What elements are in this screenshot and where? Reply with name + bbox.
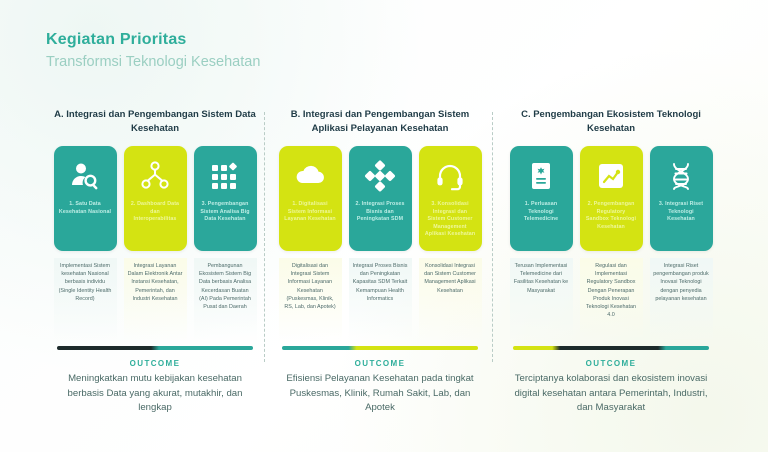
card-a2-label: 2. Dashboard Data dan Interoperabilitas: [124, 201, 187, 224]
outcome-c-label: OUTCOME: [586, 359, 637, 368]
cloud-icon: [293, 159, 327, 193]
card-b2[interactable]: 2. Integrasi Proses Bisnis dan Peningkat…: [349, 146, 412, 251]
card-c3-label: 3. Integrasi Riset Teknologi Kesehatan: [650, 201, 713, 224]
headset-icon: [433, 159, 467, 193]
column-b: B. Integrasi dan Pengembangan Sistem Apl…: [266, 108, 494, 416]
column-c-cards: 1. Perluasan Teknologi Telemedicine 2. P…: [510, 146, 713, 251]
card-b3-label: 3. Konsolidasi Integrasi dan Sistem Cust…: [419, 201, 482, 239]
outcome-c-bar: [513, 346, 709, 350]
diamond-network-icon: [363, 159, 397, 193]
infographic-page: Kegiatan Prioritas Transformsi Teknologi…: [0, 0, 768, 452]
column-b-outcome: OUTCOME Efisiensi Pelayanan Kesehatan pa…: [266, 346, 494, 416]
desc-b3: Konsolidasi Integrasi dan Sistem Custome…: [419, 258, 482, 342]
column-a-cards: 1. Satu Data Kesehatan Nasional 2. Dashb…: [54, 146, 257, 251]
page-title: Kegiatan Prioritas: [46, 30, 260, 50]
column-a-descriptions: Implementasi Sistem kesehatan Nasional b…: [54, 258, 257, 342]
dna-helix-icon: [664, 159, 698, 193]
card-a1[interactable]: 1. Satu Data Kesehatan Nasional: [54, 146, 117, 251]
desc-b2: Integrasi Proses Bisnis dan Peningkatan …: [349, 258, 412, 342]
card-a3-label: 3. Pengembangan Sistem Analisa Big Data …: [194, 201, 257, 224]
column-b-cards: 1. Digitalisasi Sistem Informasi Layanan…: [279, 146, 482, 251]
outcome-b-label: OUTCOME: [355, 359, 406, 368]
card-b1-label: 1. Digitalisasi Sistem Informasi Layanan…: [279, 201, 342, 224]
desc-a3: Pembangunan Ekosistem Sistem Big Data be…: [194, 258, 257, 342]
card-c1-label: 1. Perluasan Teknologi Telemedicine: [510, 201, 573, 224]
desc-a2: Integrasi Layanan Dalam Elektronik Antar…: [124, 258, 187, 342]
page-header: Kegiatan Prioritas Transformsi Teknologi…: [46, 30, 260, 72]
card-c2[interactable]: 2. Pengembangan Regulatory Sandbox Tekno…: [580, 146, 643, 251]
card-b2-label: 2. Integrasi Proses Bisnis dan Peningkat…: [349, 201, 412, 224]
desc-b1: Digitalisasi dan Integrasi Sistem Inform…: [279, 258, 342, 342]
card-c3[interactable]: 3. Integrasi Riset Teknologi Kesehatan: [650, 146, 713, 251]
data-grid-icon: [208, 159, 242, 193]
card-a3[interactable]: 3. Pengembangan Sistem Analisa Big Data …: [194, 146, 257, 251]
network-nodes-icon: [138, 159, 172, 193]
outcome-b-bar: [282, 346, 478, 350]
analytics-frame-icon: [594, 159, 628, 193]
user-search-icon: [68, 159, 102, 193]
outcome-a-bar: [57, 346, 253, 350]
desc-a1: Implementasi Sistem kesehatan Nasional b…: [54, 258, 117, 342]
card-c2-label: 2. Pengembangan Regulatory Sandbox Tekno…: [580, 201, 643, 231]
outcome-a-text: Meningkatkan mutu kebijakan kesehatan be…: [44, 372, 266, 416]
column-b-descriptions: Digitalisasi dan Integrasi Sistem Inform…: [279, 258, 482, 342]
column-b-heading: B. Integrasi dan Pengembangan Sistem Apl…: [266, 108, 494, 146]
desc-c1: Terusan Implementasi Telemedicine dari F…: [510, 258, 573, 342]
column-c-outcome: OUTCOME Terciptanya kolaborasi dan ekosi…: [494, 346, 728, 416]
column-c: C. Pengembangan Ekosistem Teknologi Kese…: [494, 108, 728, 416]
column-c-descriptions: Terusan Implementasi Telemedicine dari F…: [510, 258, 713, 342]
outcome-c-text: Terciptanya kolaborasi dan ekosistem ino…: [494, 372, 728, 416]
desc-c2: Regulasi dan Implementasi Regulatory San…: [580, 258, 643, 342]
column-c-heading: C. Pengembangan Ekosistem Teknologi Kese…: [494, 108, 728, 146]
outcome-a-label: OUTCOME: [130, 359, 181, 368]
page-subtitle: Transformsi Teknologi Kesehatan: [46, 52, 260, 72]
desc-c3: Integrasi Riset pengembangan produk Inov…: [650, 258, 713, 342]
card-a2[interactable]: 2. Dashboard Data dan Interoperabilitas: [124, 146, 187, 251]
card-b3[interactable]: 3. Konsolidasi Integrasi dan Sistem Cust…: [419, 146, 482, 251]
card-c1[interactable]: 1. Perluasan Teknologi Telemedicine: [510, 146, 573, 251]
column-a: A. Integrasi dan Pengembangan Sistem Dat…: [44, 108, 266, 416]
card-b1[interactable]: 1. Digitalisasi Sistem Informasi Layanan…: [279, 146, 342, 251]
column-a-heading: A. Integrasi dan Pengembangan Sistem Dat…: [44, 108, 266, 146]
medical-document-icon: [524, 159, 558, 193]
card-a1-label: 1. Satu Data Kesehatan Nasional: [54, 201, 117, 216]
column-a-outcome: OUTCOME Meningkatkan mutu kebijakan kese…: [44, 346, 266, 416]
columns-container: A. Integrasi dan Pengembangan Sistem Dat…: [44, 108, 734, 416]
outcome-b-text: Efisiensi Pelayanan Kesehatan pada tingk…: [266, 372, 494, 416]
